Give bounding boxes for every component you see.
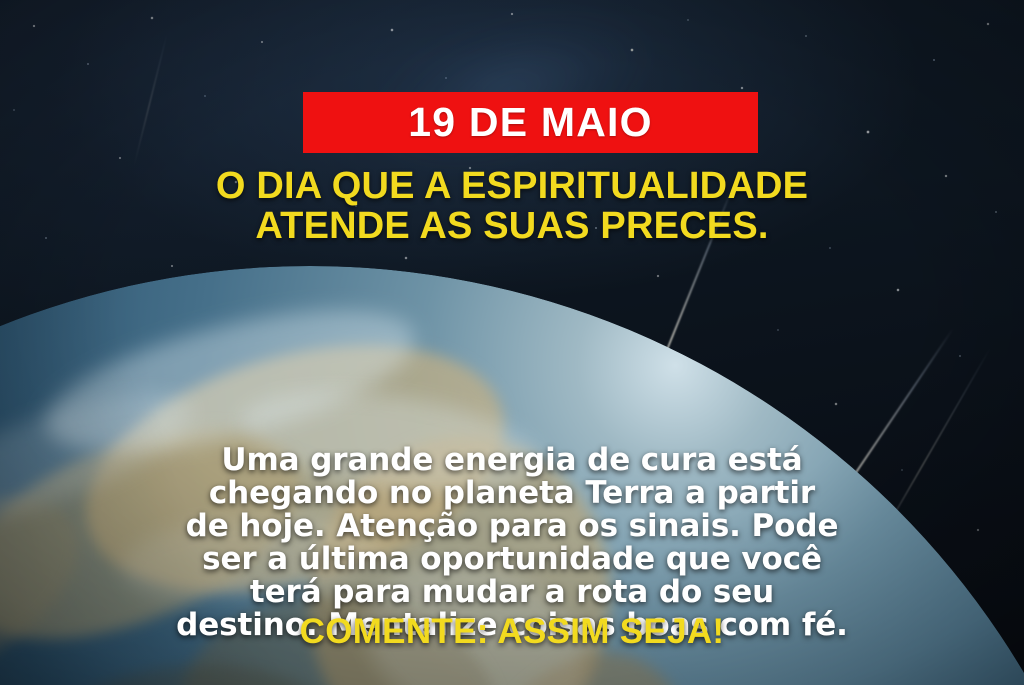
body-line-1: Uma grande energia de cura está	[0, 444, 1024, 477]
poster-content: 19 DE MAIO O DIA QUE A ESPIRITUALIDADE A…	[0, 0, 1024, 685]
body-line-4: ser a última oportunidade que você	[0, 543, 1024, 576]
headline: O DIA QUE A ESPIRITUALIDADE ATENDE AS SU…	[0, 166, 1024, 246]
body-line-5: terá para mudar a rota do seu	[0, 576, 1024, 609]
headline-line-1: O DIA QUE A ESPIRITUALIDADE	[0, 166, 1024, 206]
poster-canvas: 19 DE MAIO O DIA QUE A ESPIRITUALIDADE A…	[0, 0, 1024, 685]
date-banner-label: 19 DE MAIO	[408, 102, 652, 143]
body-line-2: chegando no planeta Terra a partir	[0, 477, 1024, 510]
body-line-3: de hoje. Atenção para os sinais. Pode	[0, 510, 1024, 543]
date-banner: 19 DE MAIO	[303, 92, 758, 153]
headline-line-2: ATENDE AS SUAS PRECES.	[0, 206, 1024, 246]
call-to-action-text: COMENTE: ASSIM SEJA!	[0, 612, 1024, 652]
